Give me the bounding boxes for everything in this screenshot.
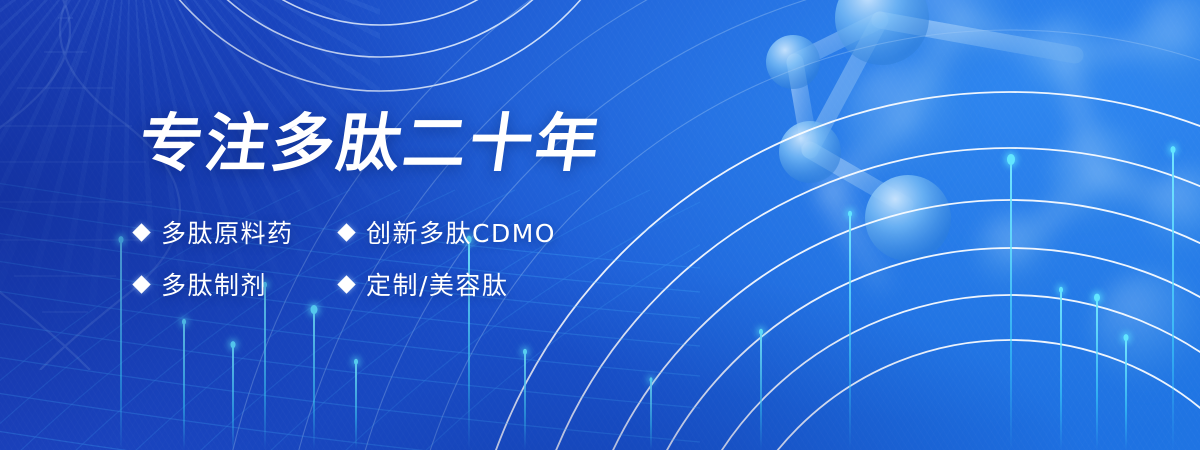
diamond-bullet-icon <box>132 223 150 241</box>
feature-label: 多肽原料药 <box>161 214 294 250</box>
feature-item-formulation[interactable]: 多肽制剂 <box>135 266 340 302</box>
banner-content: 专注多肽二十年 多肽原料药 创新多肽CDMO 多肽制剂 定制/美容肽 <box>135 112 755 310</box>
diamond-bullet-icon <box>337 275 355 293</box>
feature-item-custom[interactable]: 定制/美容肽 <box>340 266 755 302</box>
banner-headline: 专注多肽二十年 <box>135 112 764 176</box>
diamond-bullet-icon <box>132 275 150 293</box>
peptide-hero-banner: 专注多肽二十年 多肽原料药 创新多肽CDMO 多肽制剂 定制/美容肽 <box>0 0 1200 450</box>
feature-label: 创新多肽CDMO <box>366 214 556 250</box>
feature-label: 多肽制剂 <box>161 266 267 302</box>
feature-list: 多肽原料药 创新多肽CDMO 多肽制剂 定制/美容肽 <box>135 206 755 310</box>
feature-item-cdmo[interactable]: 创新多肽CDMO <box>340 214 755 250</box>
feature-item-api[interactable]: 多肽原料药 <box>135 214 340 250</box>
diamond-bullet-icon <box>337 223 355 241</box>
feature-label: 定制/美容肽 <box>366 266 508 302</box>
